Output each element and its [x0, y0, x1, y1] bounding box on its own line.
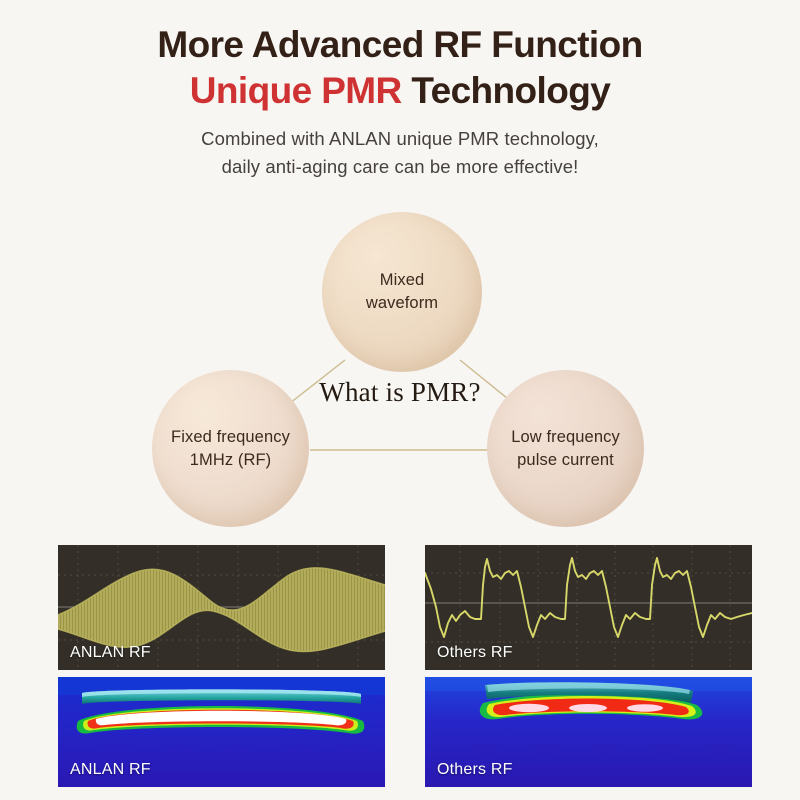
- infographic-page: More Advanced RF Function Unique PMR Tec…: [0, 0, 800, 800]
- thermal-panel-others: Others RF: [425, 677, 752, 787]
- headline-accent-text: Unique PMR: [190, 70, 402, 111]
- thermal-panel-others-label: Others RF: [437, 761, 513, 779]
- diagram-node-mixed-waveform: Mixed waveform: [322, 212, 482, 372]
- page-title: More Advanced RF Function Unique PMR Tec…: [0, 22, 800, 114]
- subtitle-line-2: daily anti-aging care can be more effect…: [0, 153, 800, 181]
- waveform-panel-anlan: ANLAN RF: [58, 545, 385, 670]
- node-label-fixed-frequency: Fixed frequency 1MHz (RF): [161, 426, 300, 472]
- waveform-panel-others: Others RF: [425, 545, 752, 670]
- pmr-diagram: Mixed waveform Fixed frequency 1MHz (RF)…: [0, 195, 800, 535]
- waveform-panel-others-label: Others RF: [437, 644, 513, 662]
- subtitle: Combined with ANLAN unique PMR technolog…: [0, 125, 800, 181]
- node-line-1: Low frequency: [511, 428, 620, 446]
- thermal-panel-anlan-label: ANLAN RF: [70, 761, 151, 779]
- node-line-2: waveform: [366, 294, 438, 312]
- headline-rest-text: Technology: [402, 70, 611, 111]
- node-label-low-frequency: Low frequency pulse current: [501, 426, 630, 472]
- thermal-panel-anlan: ANLAN RF: [58, 677, 385, 787]
- diagram-center-label: What is PMR?: [0, 377, 800, 408]
- headline-line-2: Unique PMR Technology: [0, 68, 800, 114]
- node-line-2: pulse current: [517, 451, 614, 469]
- node-line-2: 1MHz (RF): [190, 451, 272, 469]
- node-line-1: Mixed: [380, 271, 425, 289]
- headline-line-1: More Advanced RF Function: [0, 22, 800, 68]
- subtitle-line-1: Combined with ANLAN unique PMR technolog…: [0, 125, 800, 153]
- node-label-mixed-waveform: Mixed waveform: [356, 269, 448, 315]
- waveform-panel-anlan-label: ANLAN RF: [70, 644, 151, 662]
- node-line-1: Fixed frequency: [171, 428, 290, 446]
